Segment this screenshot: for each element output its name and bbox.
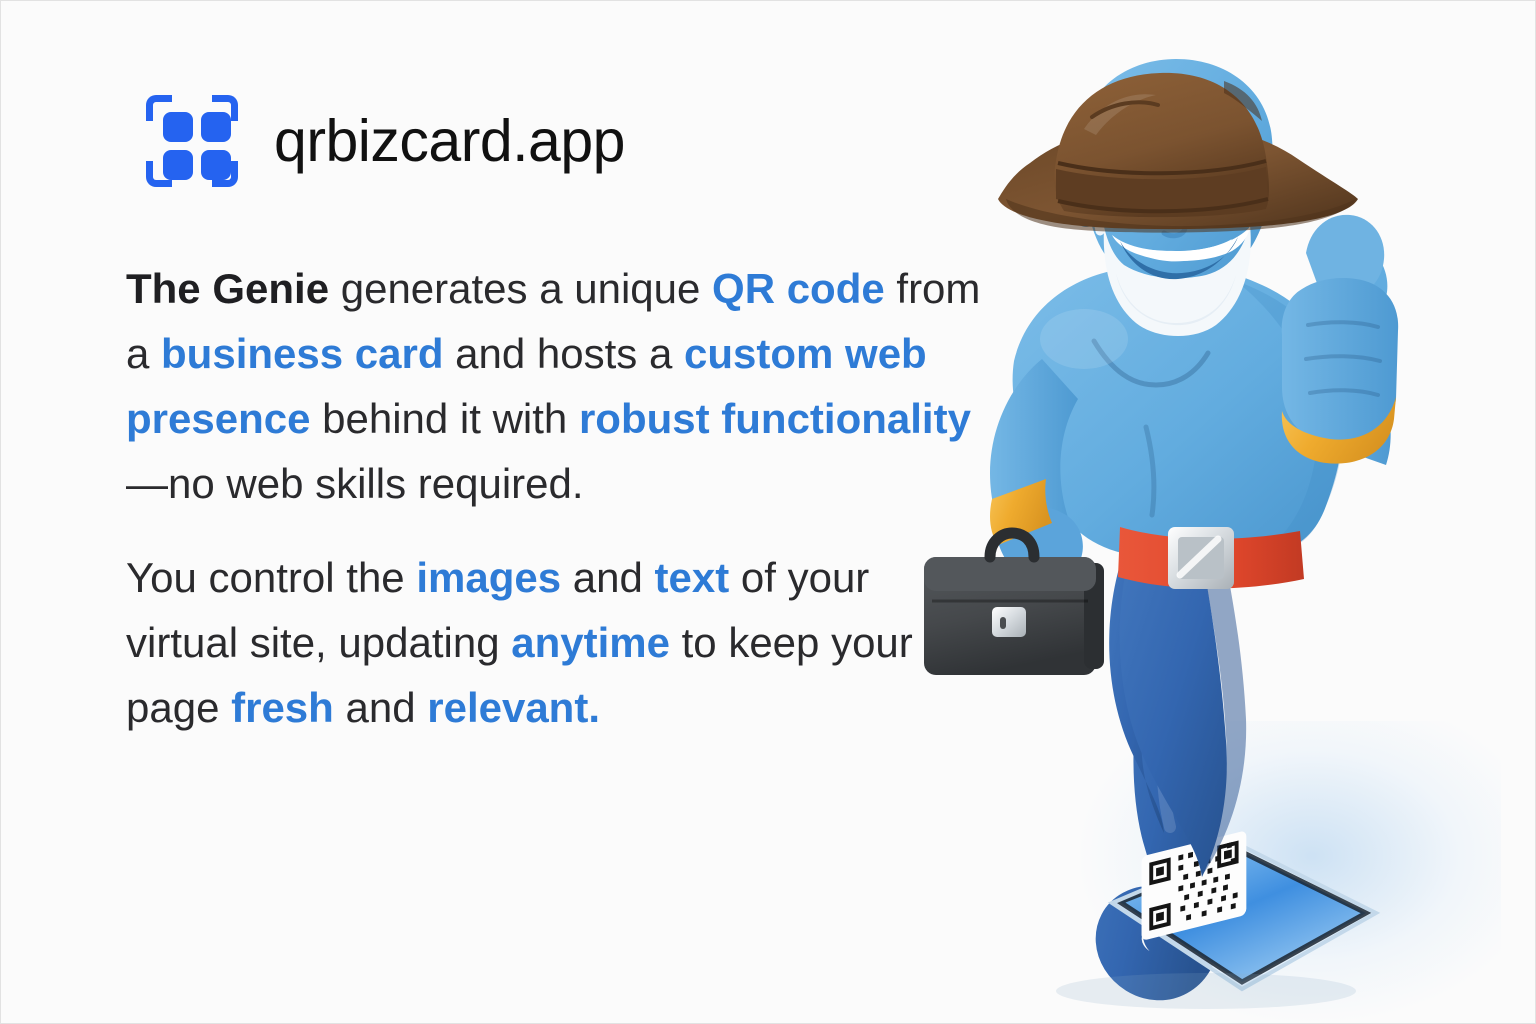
copy-run-no-web-skills: —no web skills required. bbox=[126, 460, 584, 507]
qr-square-top-right bbox=[201, 112, 231, 142]
qr-code-on-screen bbox=[1142, 830, 1247, 941]
lower-body bbox=[1109, 531, 1246, 877]
copy-run-you-control-the: You control the bbox=[126, 554, 416, 601]
brand-name: qrbizcard.app bbox=[274, 112, 625, 171]
genie-head bbox=[1069, 59, 1283, 336]
smartphone bbox=[1112, 830, 1376, 989]
left-ear bbox=[1069, 175, 1103, 227]
marketing-copy: The Genie generates a unique QR code fro… bbox=[126, 256, 986, 740]
copy-run-and: and bbox=[561, 554, 654, 601]
red-belt bbox=[1118, 527, 1304, 589]
promo-canvas: qrbizcard.app The Genie generates a uniq… bbox=[0, 0, 1536, 1024]
copy-run-business-card: business card bbox=[161, 330, 443, 377]
coiled-tail bbox=[1119, 639, 1196, 977]
ground-shadow bbox=[1056, 973, 1356, 1009]
torso bbox=[1013, 265, 1345, 557]
copy-run-robust-functionality: robust functionality bbox=[579, 395, 971, 442]
left-eye bbox=[1122, 173, 1162, 205]
copy-run-fresh: fresh bbox=[231, 684, 334, 731]
blue-genie-mascot bbox=[906, 41, 1526, 1024]
qr-square-bottom-right bbox=[201, 150, 231, 180]
copy-run-generates-a-unique: generates a unique bbox=[329, 265, 712, 312]
qr-scan-icon[interactable] bbox=[144, 93, 240, 189]
brand-header[interactable]: qrbizcard.app bbox=[144, 93, 625, 189]
copy-run-images: images bbox=[416, 554, 561, 601]
magic-sparkle-glow bbox=[1081, 721, 1501, 1021]
copy-run-anytime: anytime bbox=[511, 619, 670, 666]
copy-run-text: text bbox=[655, 554, 730, 601]
fedora-hat bbox=[998, 73, 1358, 233]
qr-square-top-left bbox=[163, 112, 193, 142]
right-eye bbox=[1197, 175, 1235, 207]
copy-run-the-genie: The Genie bbox=[126, 265, 329, 312]
paragraph-2: You control the images and text of your … bbox=[126, 545, 986, 740]
paragraph-1: The Genie generates a unique QR code fro… bbox=[126, 256, 986, 516]
right-ear bbox=[1253, 177, 1283, 225]
left-arm bbox=[990, 359, 1083, 583]
copy-run-behind-it-with: behind it with bbox=[310, 395, 579, 442]
white-beard bbox=[1104, 225, 1251, 336]
gold-wrist-cuff-left bbox=[990, 479, 1052, 545]
gold-wrist-cuff-right bbox=[1282, 397, 1396, 464]
copy-run-and-2: and bbox=[334, 684, 427, 731]
copy-run-relevant: relevant. bbox=[427, 684, 600, 731]
copy-run-and-hosts-a: and hosts a bbox=[444, 330, 685, 377]
qr-square-bottom-left bbox=[163, 150, 193, 180]
copy-run-qr-code: QR code bbox=[712, 265, 885, 312]
right-arm-thumbs-up bbox=[1282, 215, 1398, 465]
